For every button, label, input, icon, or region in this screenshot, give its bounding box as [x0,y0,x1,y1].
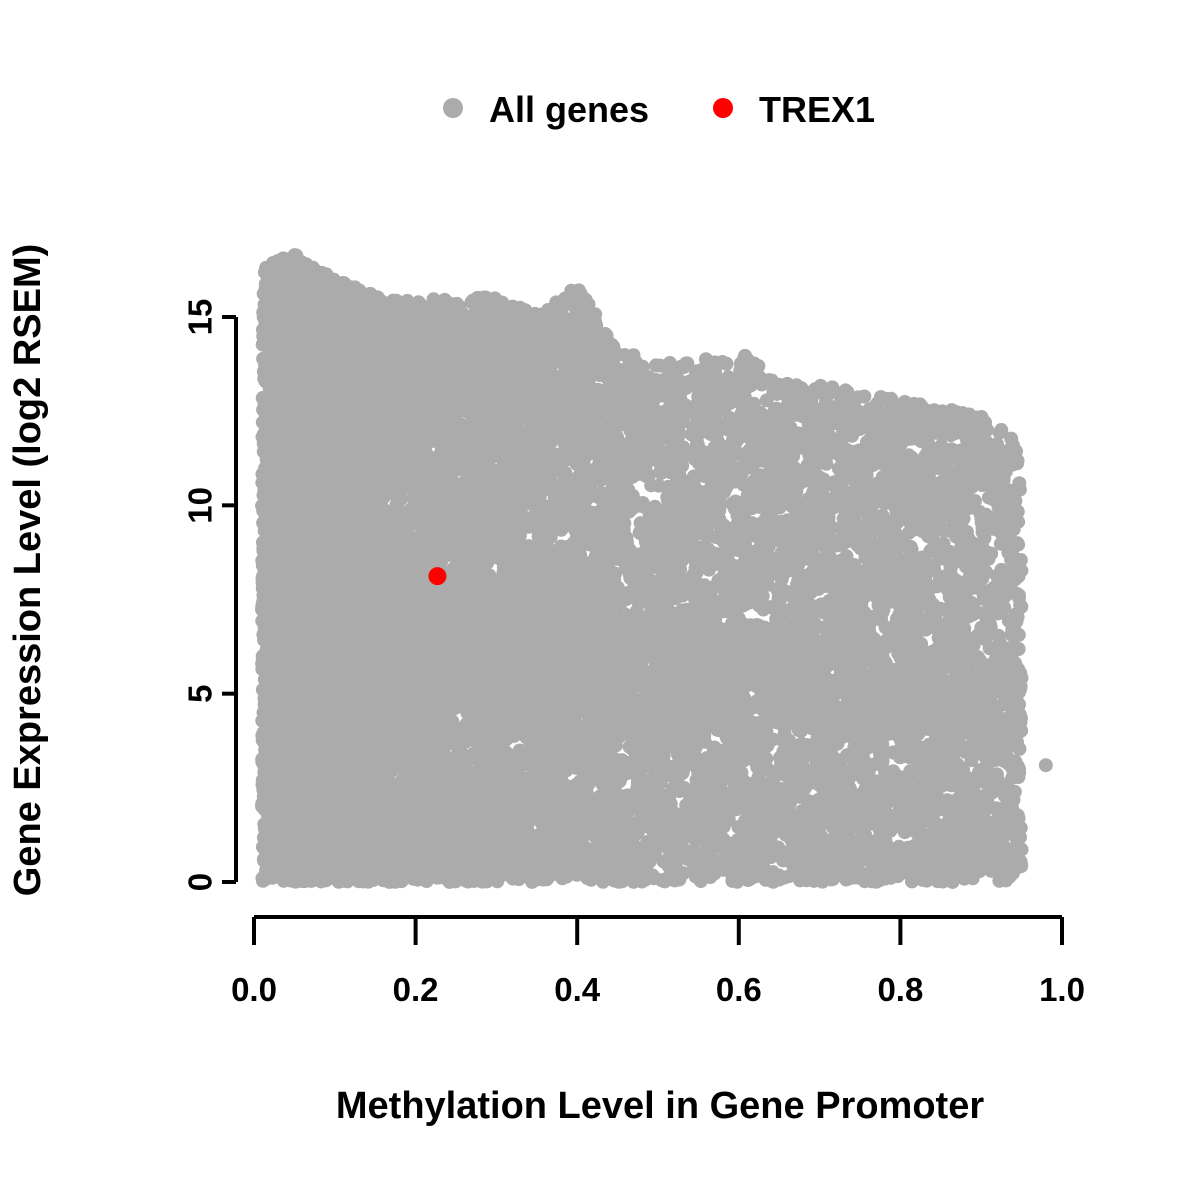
scatter-plot-figure: 051015 0.00.20.40.60.81.0 Methylation Le… [0,0,1200,1200]
plot-canvas: 051015 0.00.20.40.60.81.0 Methylation Le… [0,0,1200,1200]
